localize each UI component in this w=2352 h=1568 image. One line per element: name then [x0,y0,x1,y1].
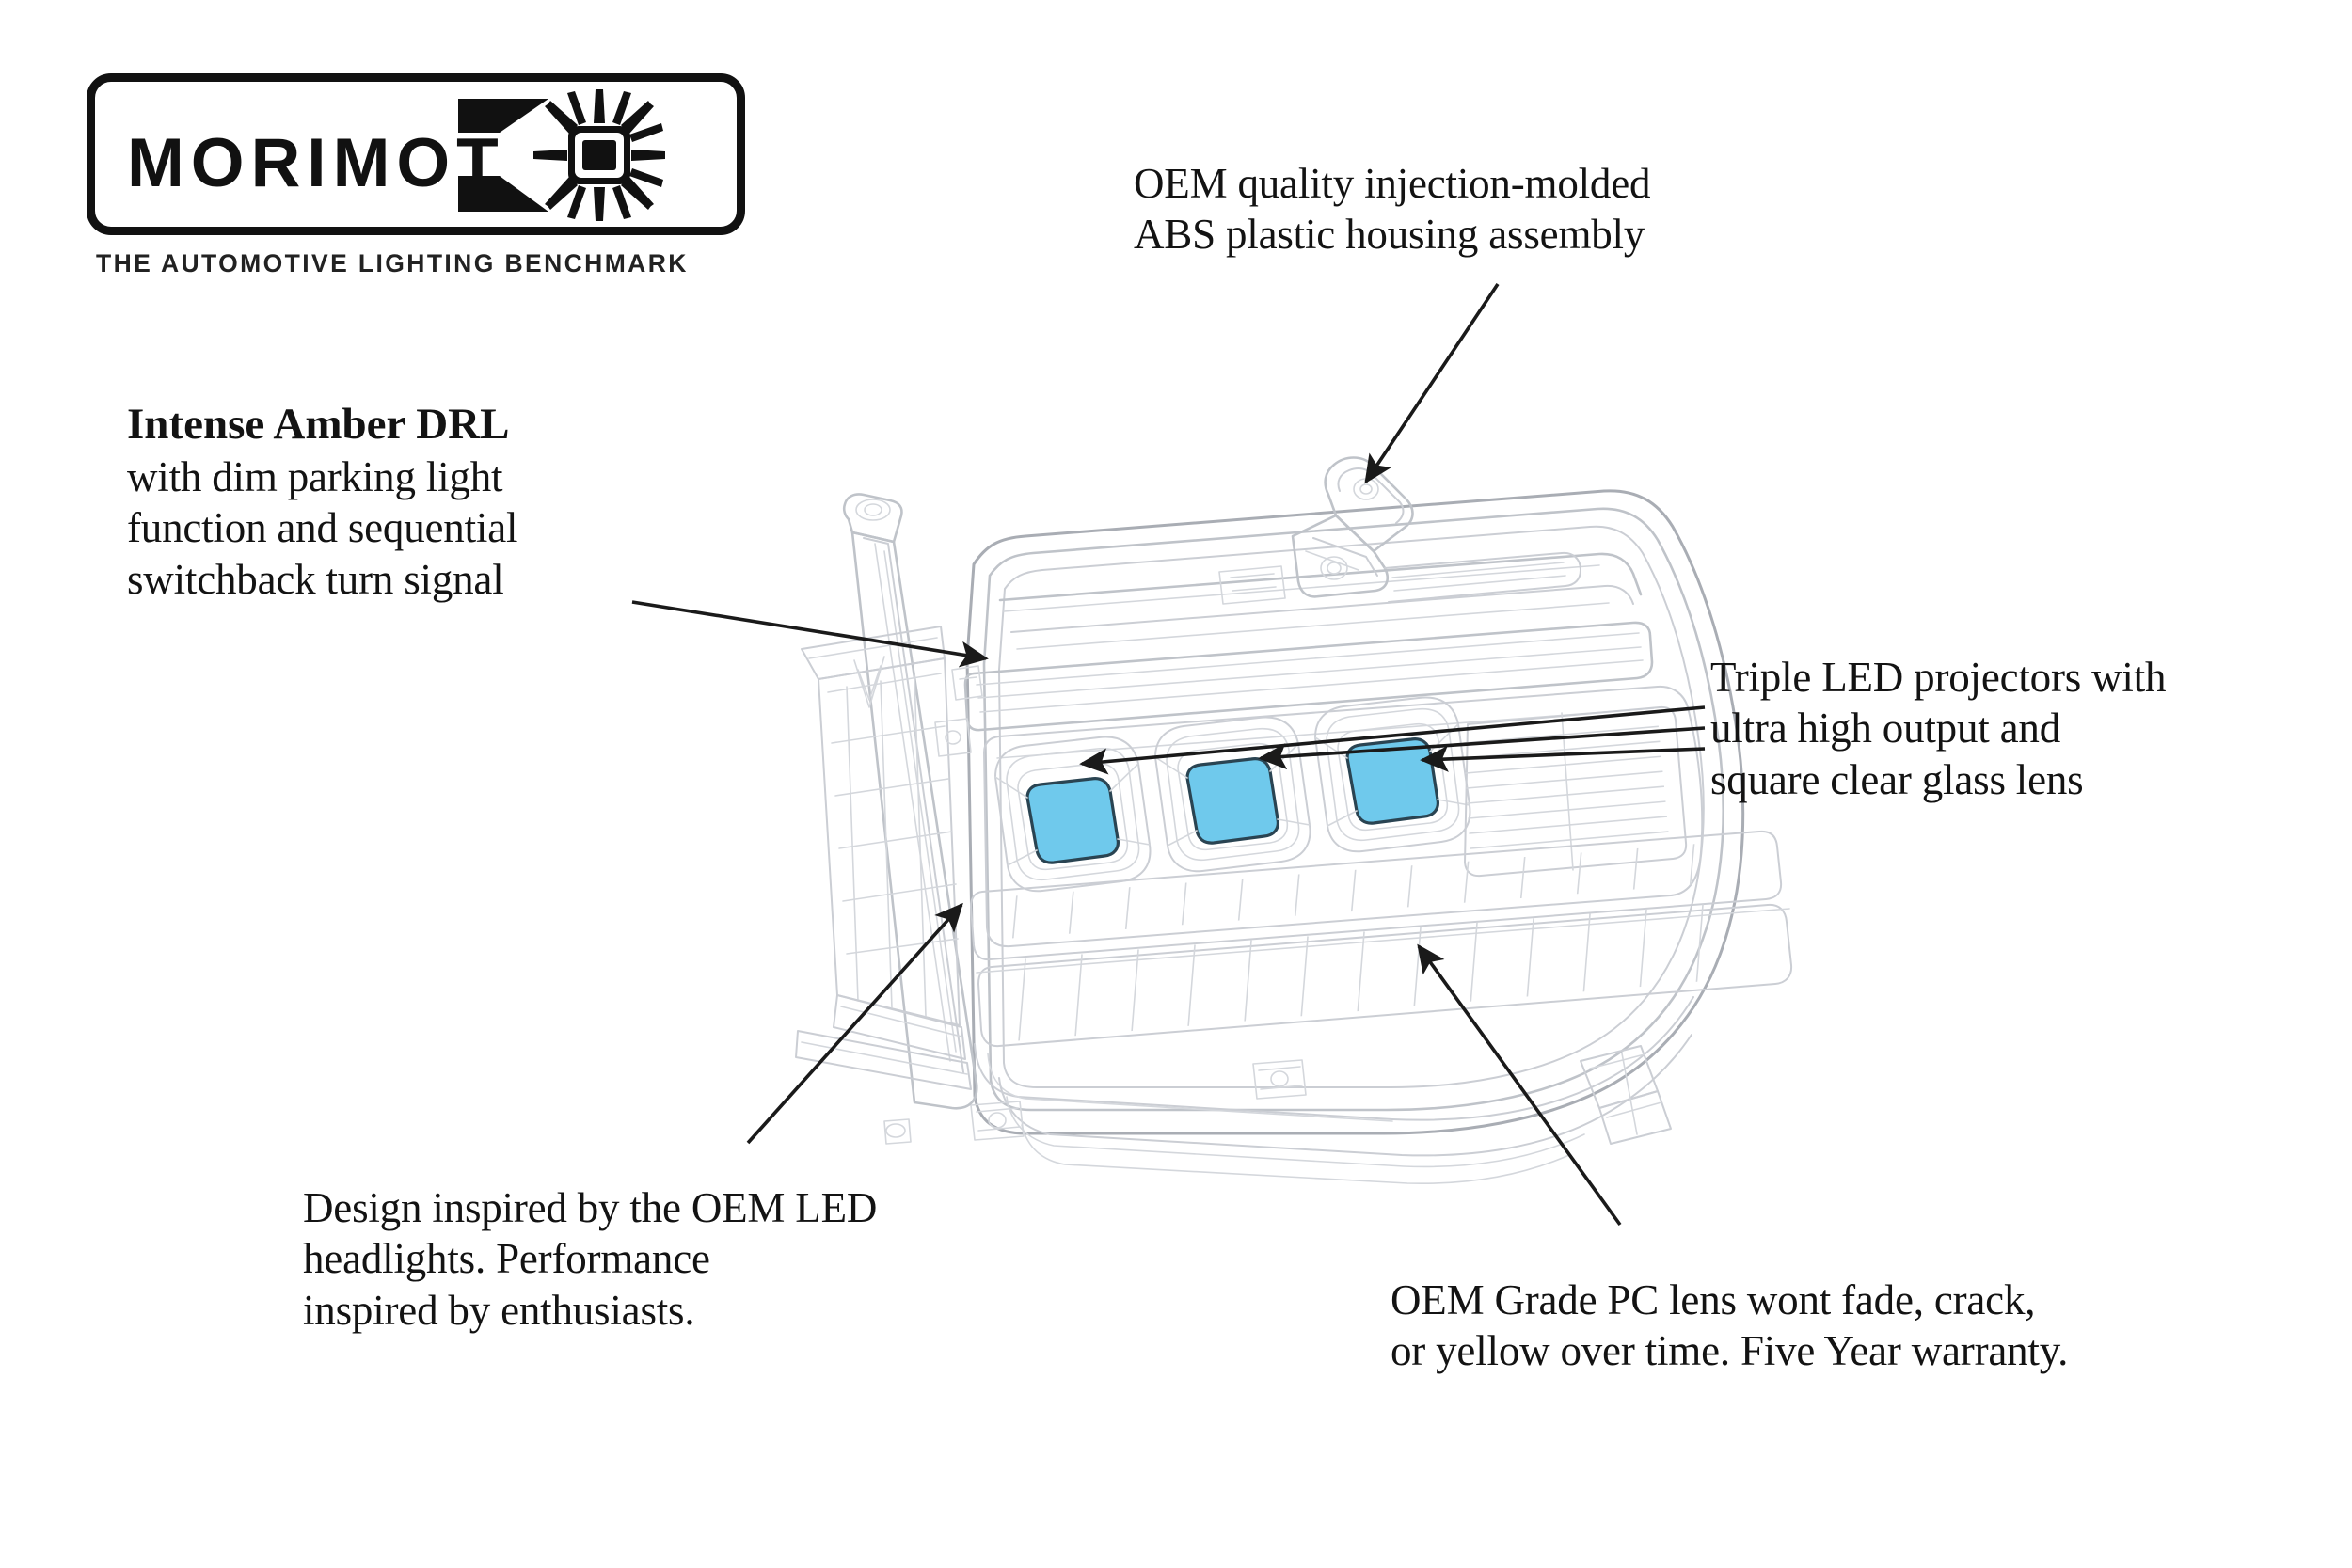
headlight-housing [796,458,1791,1184]
projector-pod-1 [995,737,1150,892]
callout-pclens-text: OEM Grade PC lens wont fade, crack, or y… [1391,1276,2068,1374]
callout-design-text: Design inspired by the OEM LED headlight… [303,1184,877,1334]
callout-projector-text: Triple LED projectors with ultra high ou… [1710,654,2166,803]
reflector-panel [1464,707,1691,876]
top-mount-tab [1219,458,1581,605]
callout-projector: Triple LED projectors with ultra high ou… [1710,652,2166,805]
diagram-canvas: MORIMOT [0,0,2352,1568]
left-mount-rail [796,494,977,1108]
callout-pclens: OEM Grade PC lens wont fade, crack, or y… [1391,1275,2068,1377]
right-mount-tab [1581,1046,1671,1144]
callout-drl-text: with dim parking light function and sequ… [127,453,517,603]
lower-light-bar [971,830,1791,1053]
callout-drl: Intense Amber DRLwith dim parking light … [127,398,517,605]
bolt-boss-a [1253,1060,1306,1099]
callout-design: Design inspired by the OEM LED headlight… [303,1182,877,1336]
projector-pod-3 [1315,698,1470,852]
callout-housing-text: OEM quality injection-molded ABS plastic… [1134,160,1650,258]
bolt-boss-c [884,1119,911,1144]
callout-housing: OEM quality injection-molded ABS plastic… [1134,158,1650,261]
callout-drl-lead: Intense Amber DRL [127,398,517,451]
